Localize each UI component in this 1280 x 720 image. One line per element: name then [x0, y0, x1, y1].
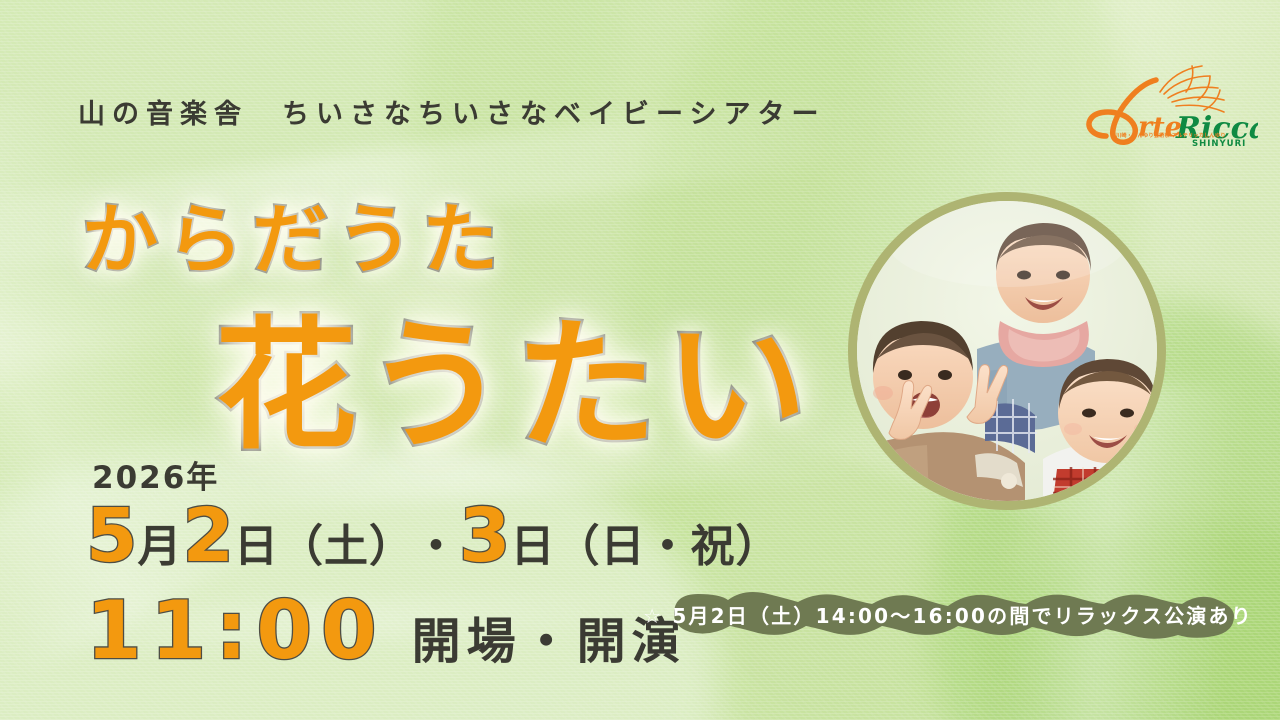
day1-number: 2: [183, 499, 235, 573]
month-number: 5: [86, 499, 138, 573]
month-unit: 月: [138, 525, 183, 569]
poster-canvas: 山の音楽舎 ちいさなちいさなベイビーシアター rte: [0, 0, 1280, 720]
day2-number: 3: [459, 499, 511, 573]
babies-photo: [857, 201, 1157, 501]
day2-unit: 日（日・祝）: [511, 525, 781, 569]
organizer-series-line: 山の音楽舎 ちいさなちいさなベイビーシアター: [78, 92, 825, 131]
babies-photo-circle: [848, 192, 1166, 510]
start-time: 11:00: [86, 591, 386, 671]
date-line: 5 月 2 日（土） ・ 3 日（日・祝）: [86, 499, 781, 573]
day1-unit: 日（土）: [234, 525, 414, 569]
relax-banner-text: ☆ 5月2日（土）14:00〜16:00の間でリラックス公演あり: [648, 588, 1248, 640]
artericca-logo[interactable]: rte Ricca SHINYURI 川崎・しんゆり芸術祭 アルテリッカしんゆり: [1068, 58, 1258, 154]
logo-shinyuri-text: SHINYURI: [1192, 139, 1246, 149]
relax-performance-banner: ☆ 5月2日（土）14:00〜16:00の間でリラックス公演あり: [648, 588, 1248, 640]
logo-japanese-subtitle: 川崎・しんゆり芸術祭 アルテリッカしんゆり: [1116, 132, 1226, 139]
date-separator: ・: [414, 525, 459, 569]
main-title-hanautai: 花うたい: [215, 270, 815, 476]
year-label: 2026年: [92, 452, 781, 497]
